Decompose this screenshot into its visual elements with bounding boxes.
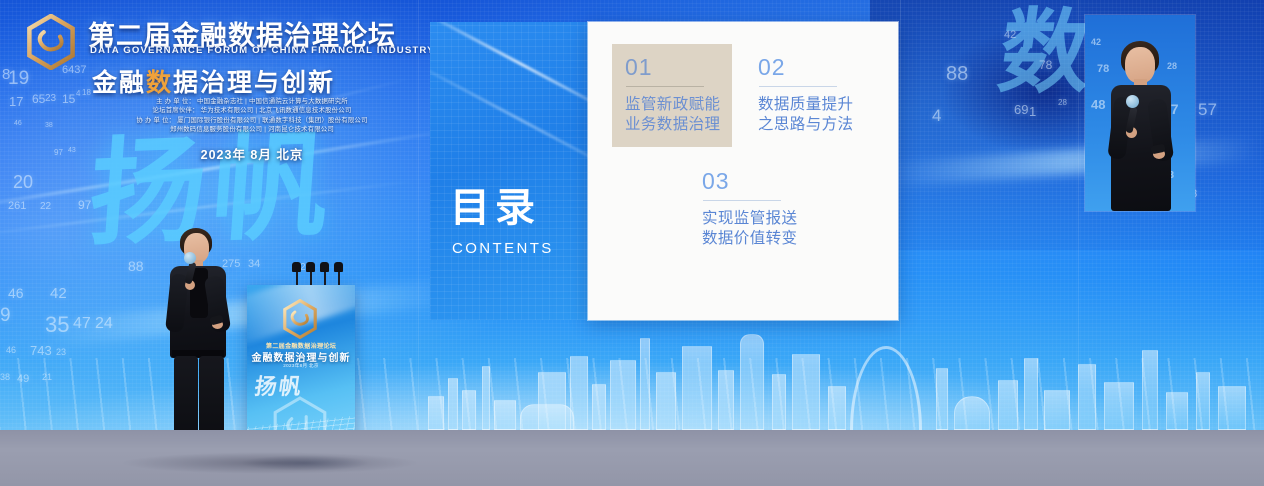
conference-stage-scene: 扬帆 数 81964371765231541846389743202612297… [0,0,1264,486]
theme-highlight-char: 数 [146,69,173,97]
background-number: 9 [0,305,11,327]
presentation-slide: 01 监管新政赋能 业务数据治理 02 数据质量提升 之思路与方法 03 实现监… [588,22,898,320]
microphone-head-icon [184,252,196,264]
inset-background-number: 48 [1091,97,1105,112]
inset-background-number: 78 [1097,63,1109,75]
organizer-line: 主 办 单 位： 中国金融杂志社 | 中国信通院云计算与大数据研究所 [92,97,412,106]
toc-label-l1: 监管新政赋能 [625,95,720,115]
banner-date-location: 2023年 8月 北京 [92,144,412,163]
slide-section-title-cn: 目录 [450,188,540,228]
event-banner: 第二届金融数据治理论坛 DATA GOVERNANCE FORUM OF CHI… [6,4,418,164]
podium-mic-head [320,262,329,272]
background-number: 69 [1014,102,1028,117]
background-number: 97 [78,198,91,212]
background-number: 261 [8,200,26,212]
background-number: 57 [1198,100,1217,120]
podium-floor-shadow [240,455,370,471]
background-number: 88 [946,63,968,86]
background-number: 42 [1004,29,1016,41]
podium-mic-head [306,262,315,272]
inset-camera-panel: 42 78 28 48 57 73 [1085,15,1195,211]
theme-part-1: 金融 [92,69,146,97]
background-number: 22 [40,201,51,212]
toc-divider [626,86,704,87]
podium-mic-head [292,262,301,272]
podium-mic-head [334,262,343,272]
slide-contents-panel: 目录 CONTENTS [430,22,588,320]
background-number: 88 [128,258,144,274]
background-number: 42 [50,285,67,302]
slide-section-title-en: CONTENTS [452,240,554,257]
banner-organizers: 主 办 单 位： 中国金融杂志社 | 中国信通院云计算与大数据研究所 论坛首席伙… [92,97,412,134]
background-number: 46 [8,285,24,301]
presenter-head [1125,47,1155,83]
banner-theme: 金融数据治理与创新 [92,63,335,99]
toc-label-l2: 数据价值转变 [702,229,797,249]
toc-item-02[interactable]: 02 数据质量提升 之思路与方法 [758,56,853,135]
inset-background-number: 28 [1167,61,1177,71]
banner-subtitle-en: DATA GOVERNANCE FORUM OF CHINA FINANCIAL… [90,45,435,56]
toc-number: 02 [758,56,853,79]
background-number: 34 [248,258,260,270]
toc-item-03[interactable]: 03 实现监管报送 数据价值转变 [702,170,797,249]
background-number: 1 [1029,104,1036,119]
toc-divider [703,200,781,201]
inset-background-number: 42 [1091,37,1101,47]
toc-number: 03 [702,170,797,193]
panel-grid-texture [430,22,588,320]
background-number: 275 [222,258,240,270]
organizer-line: 论坛首席伙伴： 华为技术有限公司 | 北京飞讯数通信息技术股份公司 [92,106,412,115]
toc-number: 01 [625,56,720,79]
toc-label-l1: 数据质量提升 [758,95,853,115]
toc-label-l2: 业务数据治理 [625,115,720,135]
background-number: 78 [1039,58,1052,72]
background-number: 20 [13,172,33,193]
toc-item-01[interactable]: 01 监管新政赋能 业务数据治理 [612,44,732,147]
hexagon-forum-logo-icon [281,299,319,339]
background-number: 4 [932,106,941,126]
toc-divider [759,86,837,87]
microphone-head-icon [1126,95,1139,108]
background-number: 28 [1058,98,1067,107]
toc-label-l2: 之思路与方法 [758,115,853,135]
organizer-line: 郑州数码信息服务股份有限公司 | 河南昆仑技术有限公司 [92,125,412,134]
organizer-line: 协 办 单 位： 厦门国际银行股份有限公司 | 联通数字科技（集团）股份有限公司 [92,116,412,125]
hexagon-forum-logo-icon [24,14,78,70]
podium-line-main: 金融数据治理与创新 [247,349,355,364]
toc-label-l1: 实现监管报送 [702,209,797,229]
theme-part-2: 据治理与创新 [173,69,335,97]
